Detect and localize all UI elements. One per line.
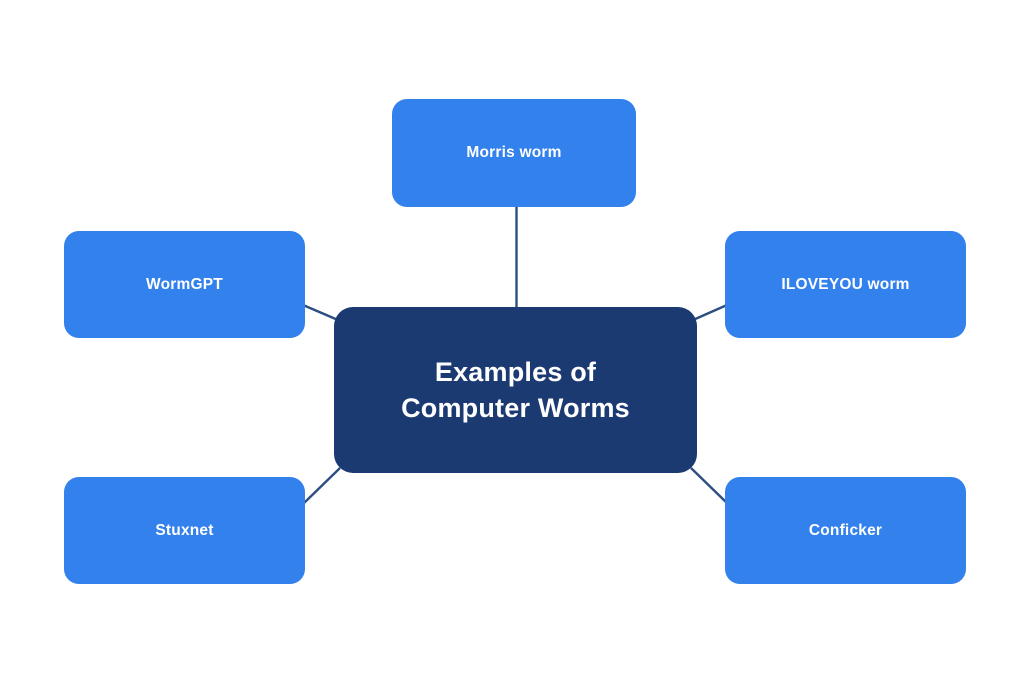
branch-node-label: Stuxnet bbox=[145, 522, 223, 540]
branch-node-wormgpt[interactable]: WormGPT bbox=[64, 231, 305, 338]
branch-node-label: Conficker bbox=[799, 522, 892, 540]
central-node-label: Examples of Computer Worms bbox=[385, 354, 646, 427]
branch-node-label: Morris worm bbox=[456, 144, 571, 162]
branch-node-iloveyou-worm[interactable]: ILOVEYOU worm bbox=[725, 231, 966, 338]
connector-conficker-to-center bbox=[691, 468, 728, 504]
connector-stuxnet-to-center bbox=[303, 468, 340, 504]
mind-map-diagram: Morris worm WormGPT ILOVEYOU worm Stuxne… bbox=[0, 0, 1030, 687]
branch-node-stuxnet[interactable]: Stuxnet bbox=[64, 477, 305, 584]
branch-node-label: WormGPT bbox=[136, 276, 233, 294]
branch-node-label: ILOVEYOU worm bbox=[771, 276, 919, 294]
connector-iloveyou-to-center bbox=[693, 305, 727, 320]
central-node[interactable]: Examples of Computer Worms bbox=[334, 307, 697, 473]
connector-wormgpt-to-center bbox=[303, 305, 338, 320]
branch-node-morris-worm[interactable]: Morris worm bbox=[392, 99, 636, 207]
branch-node-conficker[interactable]: Conficker bbox=[725, 477, 966, 584]
